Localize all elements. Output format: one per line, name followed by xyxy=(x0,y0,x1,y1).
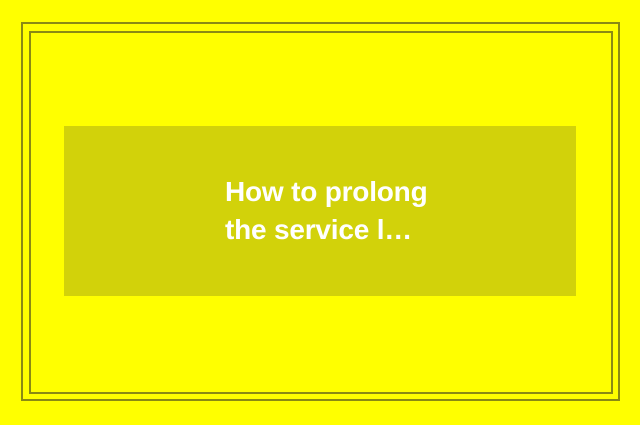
content-panel[interactable]: How to prolong the service l… xyxy=(64,126,576,296)
card-canvas: How to prolong the service l… xyxy=(0,0,640,425)
panel-title: How to prolong the service l… xyxy=(225,173,427,249)
